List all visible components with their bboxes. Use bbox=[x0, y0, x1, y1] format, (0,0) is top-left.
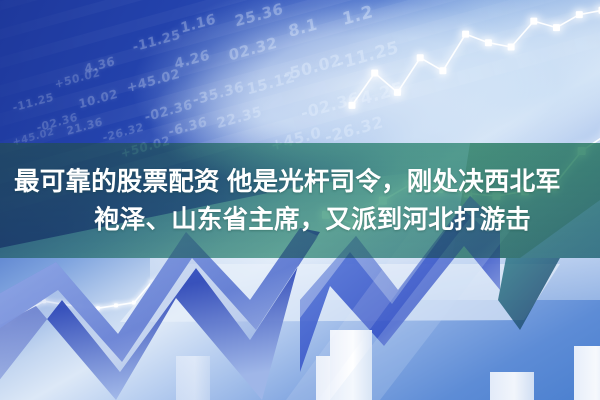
bar-column bbox=[490, 372, 534, 400]
chart-node-marker bbox=[508, 44, 515, 51]
chart-node-marker bbox=[349, 102, 356, 109]
bar-column bbox=[176, 356, 210, 400]
ticker-streak bbox=[0, 0, 600, 7]
chart-node-marker bbox=[576, 11, 583, 18]
ticker-number: 25.36 bbox=[233, 0, 284, 31]
ticker-number: 15.12 bbox=[245, 67, 296, 98]
chart-node-marker bbox=[114, 303, 118, 307]
chart-node-marker bbox=[439, 67, 446, 74]
ticker-streak bbox=[0, 0, 600, 141]
ticker-number: 22.35 bbox=[216, 104, 264, 132]
headline-line-1: 最可靠的股票配资 他是光杆司令，刚处决西北军 bbox=[14, 163, 561, 201]
plate-wedge bbox=[120, 264, 560, 322]
ticker-number: -02.36 bbox=[36, 110, 79, 134]
ticker-number: -26.32 bbox=[102, 120, 145, 144]
chart-line bbox=[352, 10, 600, 105]
chart-node-marker bbox=[530, 18, 537, 25]
ticker-number: -11.25 bbox=[336, 38, 401, 75]
chart-node-marker bbox=[132, 301, 136, 305]
ticker-number: -26.32 bbox=[324, 112, 385, 147]
pale-plate bbox=[150, 258, 600, 300]
ticker-number: +45.02 bbox=[126, 67, 182, 97]
chart-node-marker bbox=[24, 309, 28, 313]
chart-node-marker bbox=[6, 323, 10, 327]
teal-shard bbox=[498, 258, 560, 330]
headline: 最可靠的股票配资 他是光杆司令，刚处决西北军 袍泽、山东省主席，又派到河北打游击 bbox=[0, 143, 600, 258]
ticker-streak bbox=[0, 0, 600, 114]
chart-line bbox=[0, 270, 170, 325]
ticker-number: -02.36 bbox=[300, 88, 361, 123]
bar-column bbox=[330, 330, 372, 400]
chart-node-marker bbox=[150, 280, 154, 284]
bar-column bbox=[574, 346, 600, 400]
chart-series-upper bbox=[349, 7, 600, 109]
ticker-number: -50.02 bbox=[282, 50, 343, 85]
zigzag-arrow-left bbox=[0, 236, 318, 400]
chart-node-marker bbox=[371, 70, 378, 77]
chart-node-marker bbox=[417, 54, 424, 61]
chart-node-marker bbox=[462, 31, 469, 38]
banner-image: -11.25+50.02-02.36+45.024.3610.0221.36-2… bbox=[0, 0, 600, 400]
chart-node-marker bbox=[96, 306, 100, 310]
ticker-streak bbox=[0, 0, 600, 61]
ticker-number: 4.26 bbox=[173, 47, 211, 73]
ticker-number: 02.32 bbox=[227, 33, 278, 64]
chart-series-left bbox=[0, 268, 172, 327]
ticker-number: -35.36 bbox=[192, 79, 246, 109]
ticker-number: 4.36 bbox=[83, 54, 116, 76]
ticker-number: -02.36 bbox=[144, 97, 194, 125]
ticker-number: 10.02 bbox=[78, 87, 119, 112]
chart-node-marker bbox=[168, 268, 172, 272]
ticker-number: 4.25 bbox=[359, 78, 405, 110]
chart-node-marker bbox=[60, 302, 64, 306]
ticker-number: 8.1 bbox=[287, 14, 319, 41]
chart-node-marker bbox=[553, 24, 560, 31]
ticker-streak bbox=[0, 0, 600, 87]
ticker-streak bbox=[0, 0, 600, 34]
ticker-number: 1.16 bbox=[179, 11, 217, 37]
chart-node-marker bbox=[78, 305, 82, 309]
chart-node-marker bbox=[42, 299, 46, 303]
ticker-number: -6.36 bbox=[167, 115, 208, 141]
ticker-number: 21.36 bbox=[66, 115, 104, 138]
chart-node-marker bbox=[485, 39, 492, 46]
ticker-number: 1.2 bbox=[341, 2, 375, 30]
ticker-number: -11.25 bbox=[132, 27, 182, 55]
ticker-number: -11.25 bbox=[12, 90, 55, 114]
chart-node-marker bbox=[394, 89, 401, 96]
headline-line-2: 袍泽、山东省主席，又派到河北打游击 bbox=[94, 201, 586, 239]
ticker-number: +50.02 bbox=[54, 66, 101, 91]
bar-column bbox=[316, 356, 358, 400]
